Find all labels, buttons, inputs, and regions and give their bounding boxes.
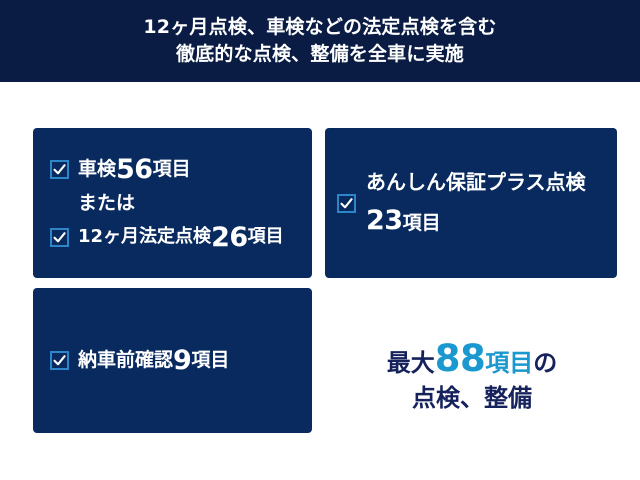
inspection-row-12month-number: 26 xyxy=(211,224,248,251)
card-inspection-items-content: 車検 56 項目 または 12ヶ月法定点検 26 項目 xyxy=(33,128,312,278)
inspection-row-shaken: 車検 56 項目 xyxy=(50,152,284,186)
header-banner: 12ヶ月点検、車検などの法定点検を含む 徹底的な点検、整備を全車に実施 xyxy=(0,0,640,82)
inspection-items-rows: 車検 56 項目 または 12ヶ月法定点検 26 項目 xyxy=(50,152,284,254)
summary-line-1: 最大 88 項目 の xyxy=(387,340,558,377)
card-inspection-items: 車検 56 項目 または 12ヶ月法定点検 26 項目 xyxy=(33,128,312,278)
checkbox-checked-icon xyxy=(50,351,69,370)
inspection-row-12month-unit: 項目 xyxy=(248,228,284,246)
summary-unit: 項目 xyxy=(485,351,533,375)
checkbox-checked-icon xyxy=(337,194,356,213)
card-warranty-plus-inspection: あんしん保証プラス点検 23 項目 xyxy=(325,128,617,278)
checkbox-checked-icon xyxy=(50,228,69,247)
summary-number: 88 xyxy=(435,340,486,377)
pre-delivery-unit: 項目 xyxy=(191,351,229,370)
warranty-plus-unit: 項目 xyxy=(403,214,441,233)
warranty-plus-title: あんしん保証プラス点検 xyxy=(366,172,586,192)
header-line-2: 徹底的な点検、整備を全車に実施 xyxy=(176,41,464,68)
pre-delivery-label: 納車前確認 xyxy=(78,351,173,370)
summary-line-2: 点検、整備 xyxy=(412,386,532,410)
checkbox-checked-icon xyxy=(50,160,69,179)
card-pre-delivery-content: 納車前確認 9 項目 xyxy=(33,288,312,433)
summary-total: 最大 88 項目 の 点検、整備 xyxy=(322,320,622,430)
summary-prefix: 最大 xyxy=(387,351,435,375)
summary-line-2-label: 点検、整備 xyxy=(412,386,532,410)
header-line-1: 12ヶ月点検、車検などの法定点検を含む xyxy=(143,14,496,41)
warranty-plus-number: 23 xyxy=(366,207,403,234)
card-pre-delivery-check: 納車前確認 9 項目 xyxy=(33,288,312,433)
warranty-plus-lines: あんしん保証プラス点検 23 項目 xyxy=(366,172,586,234)
summary-suffix: の xyxy=(533,351,557,375)
inspection-row-12month-label: 12ヶ月法定点検 xyxy=(78,228,211,246)
inspection-row-12month: 12ヶ月法定点検 26 項目 xyxy=(50,220,284,254)
inspection-row-shaken-unit: 項目 xyxy=(153,160,191,179)
inspection-row-or: または xyxy=(50,186,284,220)
inspection-row-shaken-label: 車検 xyxy=(78,160,116,179)
inspection-row-shaken-number: 56 xyxy=(116,156,153,183)
pre-delivery-number: 9 xyxy=(173,347,191,374)
warranty-plus-count: 23 項目 xyxy=(366,207,586,234)
pre-delivery-row: 納車前確認 9 項目 xyxy=(50,347,229,374)
inspection-row-or-label: または xyxy=(78,194,135,213)
card-warranty-plus-content: あんしん保証プラス点検 23 項目 xyxy=(325,128,617,278)
